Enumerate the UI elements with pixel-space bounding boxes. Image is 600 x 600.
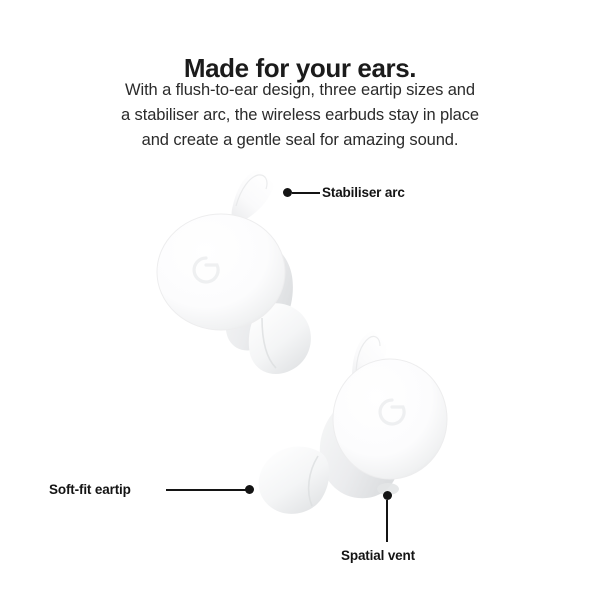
leader-dot-spatial-vent	[383, 491, 392, 500]
leader-line-soft-fit-eartip	[166, 489, 248, 491]
stabiliser-arc-fin-upper	[232, 170, 275, 223]
soft-fit-eartip-lower	[259, 446, 330, 513]
earbud-upper	[157, 170, 311, 374]
product-feature-panel: Made for your ears. With a flush-to-ear …	[0, 0, 600, 600]
earbud-housing-disc-lower	[333, 359, 447, 479]
earbuds-product-image	[0, 0, 600, 600]
leader-line-spatial-vent	[386, 500, 388, 542]
callout-label-soft-fit-eartip: Soft-fit eartip	[49, 482, 131, 497]
callout-label-stabiliser-arc: Stabiliser arc	[322, 185, 405, 200]
leader-line-stabiliser-arc	[292, 192, 320, 194]
earbud-housing-disc-upper	[157, 214, 285, 330]
leader-dot-stabiliser-arc	[283, 188, 292, 197]
leader-dot-soft-fit-eartip	[245, 485, 254, 494]
callout-label-spatial-vent: Spatial vent	[341, 548, 415, 563]
